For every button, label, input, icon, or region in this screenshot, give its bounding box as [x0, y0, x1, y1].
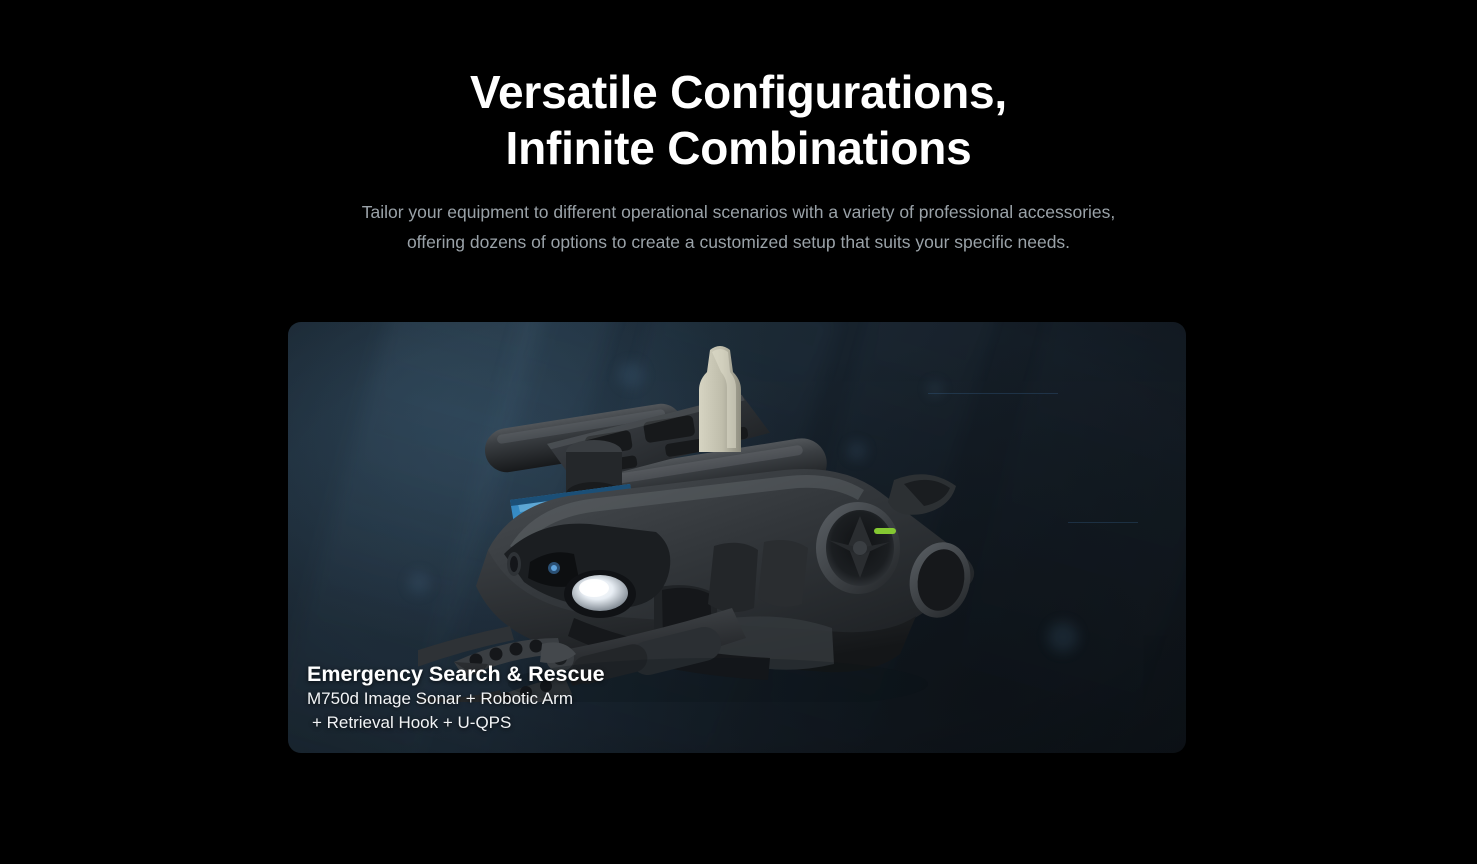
page-title-line-1: Versatile Configurations,: [470, 66, 1007, 118]
page-subtitle: Tailor your equipment to different opera…: [359, 198, 1119, 257]
status-led: [874, 528, 896, 534]
underwater-rov-illustration: [418, 332, 1058, 702]
caption-title: Emergency Search & Rescue: [307, 661, 605, 687]
configuration-showcase-card[interactable]: Emergency Search & Rescue M750d Image So…: [288, 322, 1186, 753]
page-title-line-2: Infinite Combinations: [506, 122, 972, 174]
thruster-duct-main: [816, 502, 900, 594]
caption-line-2: + Retrieval Hook + U-QPS: [307, 711, 605, 735]
page-root: Versatile Configurations, Infinite Combi…: [0, 0, 1477, 864]
page-title: Versatile Configurations, Infinite Combi…: [0, 64, 1477, 176]
led-headlight: [564, 570, 636, 618]
u-qps-beacon: [699, 346, 741, 452]
hero-heading-block: Versatile Configurations, Infinite Combi…: [0, 64, 1477, 257]
configuration-caption: Emergency Search & Rescue M750d Image So…: [307, 661, 605, 735]
caption-line-1: M750d Image Sonar + Robotic Arm: [307, 687, 605, 711]
